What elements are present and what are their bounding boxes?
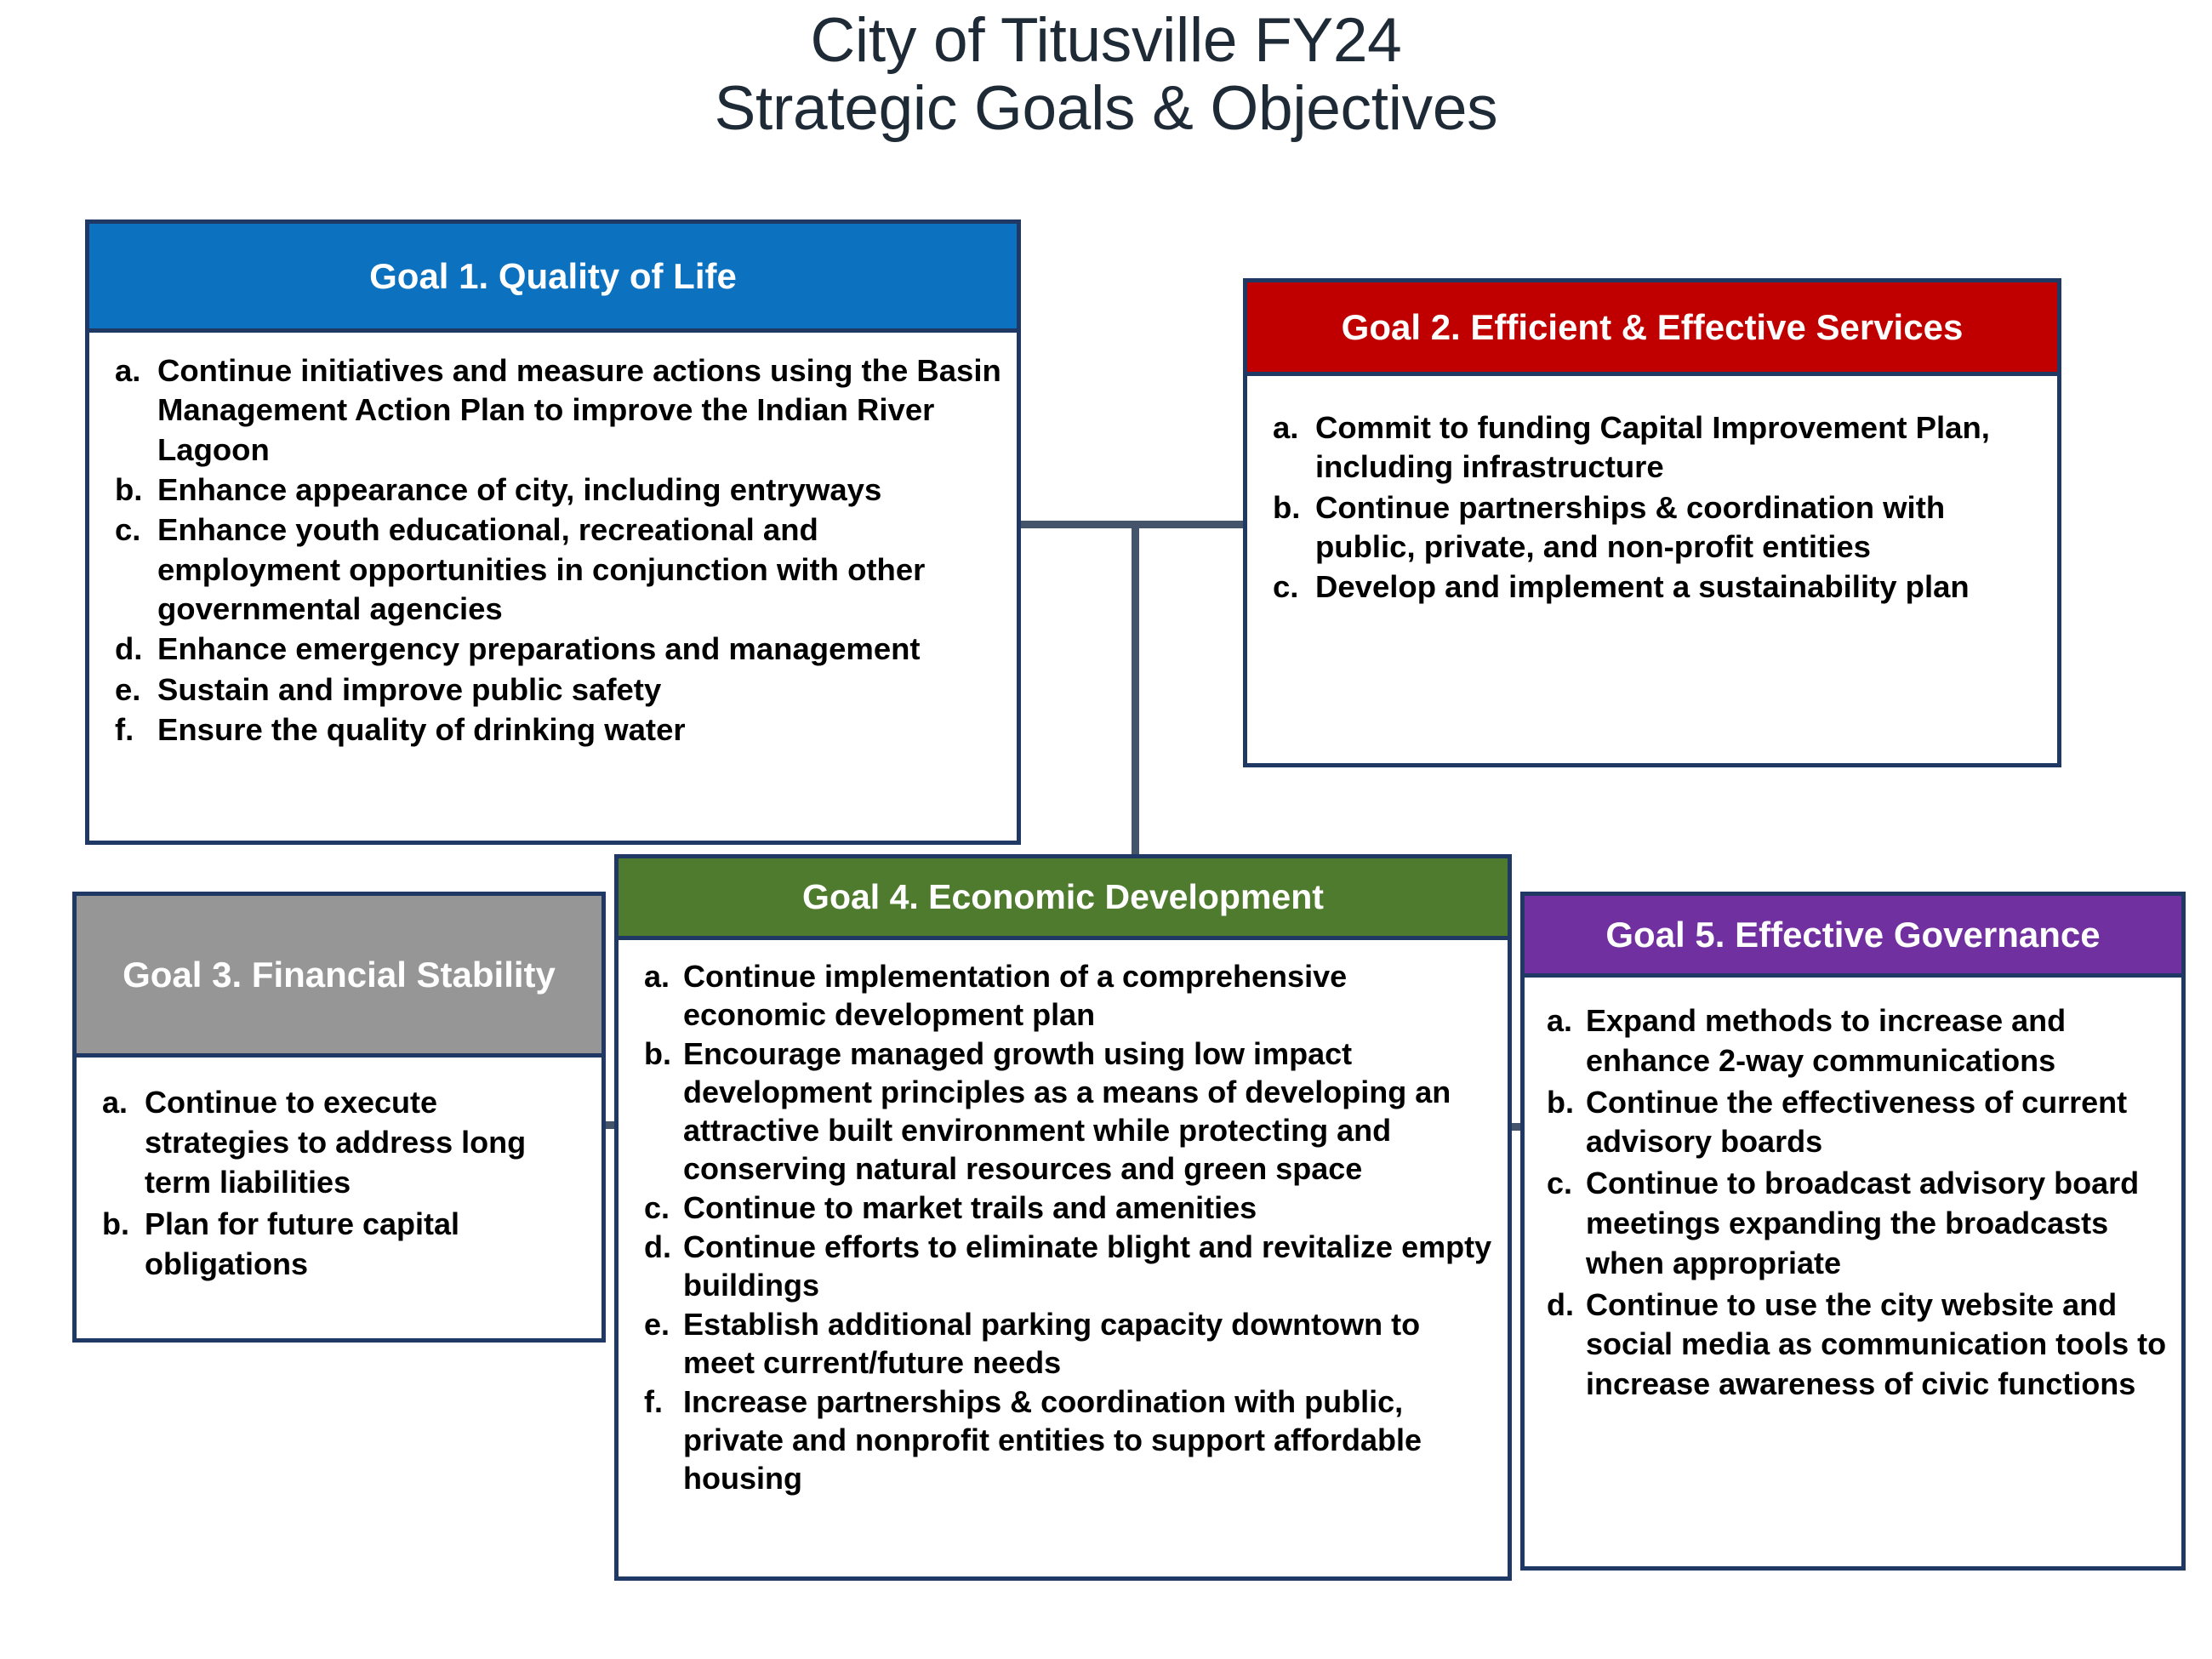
objective-text: Plan for future capital obligations <box>145 1205 586 1285</box>
objective-item: c. Enhance youth educational, recreation… <box>105 510 1001 629</box>
objective-marker: a. <box>105 351 157 391</box>
objective-marker: d. <box>105 630 157 669</box>
goal-card-2[interactable]: Goal 2. Efficient & Effective Services a… <box>1243 278 2061 767</box>
objective-marker: b. <box>1536 1083 1586 1123</box>
objective-text: Expand methods to increase and enhance 2… <box>1586 1001 2169 1081</box>
objective-marker: a. <box>92 1083 145 1123</box>
objective-marker: f. <box>630 1382 683 1421</box>
objective-text: Increase partnerships & coordination wit… <box>683 1382 1496 1497</box>
objective-text: Enhance youth educational, recreational … <box>157 510 1001 629</box>
objective-marker: d. <box>630 1228 683 1266</box>
objective-marker: b. <box>105 470 157 510</box>
goal-1-objective-list: a. Continue initiatives and measure acti… <box>105 351 1001 750</box>
objective-text: Continue the effectiveness of current ad… <box>1586 1083 2169 1163</box>
goal-3-header: Goal 3. Financial Stability <box>77 896 601 1058</box>
objective-text: Continue to use the city website and soc… <box>1586 1286 2169 1405</box>
goal-5-header: Goal 5. Effective Governance <box>1525 896 2181 978</box>
strategic-goals-diagram: City of Titusville FY24 Strategic Goals … <box>0 0 2212 1659</box>
goal-card-3[interactable]: Goal 3. Financial Stability a. Continue … <box>72 892 606 1343</box>
goal-2-header: Goal 2. Efficient & Effective Services <box>1247 282 2057 376</box>
objective-item: a. Continue initiatives and measure acti… <box>105 351 1001 470</box>
objective-marker: c. <box>630 1189 683 1227</box>
objective-item: b. Enhance appearance of city, including… <box>105 470 1001 510</box>
objective-item: b. Encourage managed growth using low im… <box>630 1035 1496 1188</box>
objective-marker: a. <box>630 957 683 995</box>
objective-text: Continue to broadcast advisory board mee… <box>1586 1164 2169 1283</box>
objective-marker: e. <box>630 1305 683 1343</box>
objective-text: Enhance appearance of city, including en… <box>157 470 1001 510</box>
goal-5-body: a. Expand methods to increase and enhanc… <box>1525 978 2181 1566</box>
objective-item: d. Continue efforts to eliminate blight … <box>630 1228 1496 1304</box>
objective-text: Continue partnerships & coordination wit… <box>1315 488 2042 567</box>
objective-item: c. Continue to broadcast advisory board … <box>1536 1164 2169 1283</box>
objective-marker: a. <box>1263 408 1315 448</box>
goal-2-objective-list: a. Commit to funding Capital Improvement… <box>1263 408 2042 607</box>
objective-text: Ensure the quality of drinking water <box>157 710 1001 750</box>
goal-card-5[interactable]: Goal 5. Effective Governance a. Expand m… <box>1520 892 2186 1571</box>
goal-card-4[interactable]: Goal 4. Economic Development a. Continue… <box>614 854 1512 1581</box>
objective-text: Encourage managed growth using low impac… <box>683 1035 1496 1188</box>
connector-goal4-trunk <box>1132 521 1139 858</box>
goal-card-1[interactable]: Goal 1. Quality of Life a. Continue init… <box>85 219 1021 845</box>
objective-item: b. Continue the effectiveness of current… <box>1536 1083 2169 1163</box>
objective-marker: c. <box>1263 567 1315 607</box>
objective-item: c. Continue to market trails and ameniti… <box>630 1189 1496 1227</box>
goal-1-body: a. Continue initiatives and measure acti… <box>89 333 1017 841</box>
goal-2-body: a. Commit to funding Capital Improvement… <box>1247 376 2057 763</box>
goal-3-objective-list: a. Continue to execute strategies to add… <box>92 1083 586 1285</box>
goal-1-header: Goal 1. Quality of Life <box>89 224 1017 333</box>
objective-marker: c. <box>105 510 157 550</box>
objective-item: a. Expand methods to increase and enhanc… <box>1536 1001 2169 1081</box>
objective-marker: e. <box>105 670 157 710</box>
page-title-line-2: Strategic Goals & Objectives <box>0 75 2212 143</box>
objective-item: f. Increase partnerships & coordination … <box>630 1382 1496 1497</box>
objective-text: Continue initiatives and measure actions… <box>157 351 1001 470</box>
objective-item: e. Sustain and improve public safety <box>105 670 1001 710</box>
objective-item: b. Continue partnerships & coordination … <box>1263 488 2042 567</box>
page-title-line-1: City of Titusville FY24 <box>0 7 2212 75</box>
objective-marker: b. <box>1263 488 1315 527</box>
objective-item: c. Develop and implement a sustainabilit… <box>1263 567 2042 607</box>
objective-marker: a. <box>1536 1001 1586 1041</box>
objective-item: a. Continue to execute strategies to add… <box>92 1083 586 1202</box>
objective-text: Continue to execute strategies to addres… <box>145 1083 586 1202</box>
objective-item: d. Enhance emergency preparations and ma… <box>105 630 1001 669</box>
goal-4-objective-list: a. Continue implementation of a comprehe… <box>630 957 1496 1497</box>
objective-marker: b. <box>630 1035 683 1073</box>
page-title: City of Titusville FY24 Strategic Goals … <box>0 7 2212 144</box>
objective-item: d. Continue to use the city website and … <box>1536 1286 2169 1405</box>
objective-text: Enhance emergency preparations and manag… <box>157 630 1001 669</box>
objective-item: a. Commit to funding Capital Improvement… <box>1263 408 2042 487</box>
objective-item: f. Ensure the quality of drinking water <box>105 710 1001 750</box>
goal-5-objective-list: a. Expand methods to increase and enhanc… <box>1536 1001 2169 1405</box>
objective-marker: b. <box>92 1205 145 1245</box>
objective-item: b. Plan for future capital obligations <box>92 1205 586 1285</box>
objective-marker: d. <box>1536 1286 1586 1325</box>
objective-text: Sustain and improve public safety <box>157 670 1001 710</box>
objective-marker: f. <box>105 710 157 750</box>
objective-text: Continue efforts to eliminate blight and… <box>683 1228 1496 1304</box>
goal-4-header: Goal 4. Economic Development <box>619 858 1508 940</box>
objective-item: a. Continue implementation of a comprehe… <box>630 957 1496 1034</box>
objective-text: Commit to funding Capital Improvement Pl… <box>1315 408 2042 487</box>
objective-text: Develop and implement a sustainability p… <box>1315 567 2042 607</box>
objective-text: Continue to market trails and amenities <box>683 1189 1496 1227</box>
objective-text: Continue implementation of a comprehensi… <box>683 957 1496 1034</box>
goal-4-body: a. Continue implementation of a comprehe… <box>619 940 1508 1576</box>
objective-text: Establish additional parking capacity do… <box>683 1305 1496 1382</box>
objective-marker: c. <box>1536 1164 1586 1204</box>
objective-item: e. Establish additional parking capacity… <box>630 1305 1496 1382</box>
goal-3-body: a. Continue to execute strategies to add… <box>77 1058 601 1338</box>
